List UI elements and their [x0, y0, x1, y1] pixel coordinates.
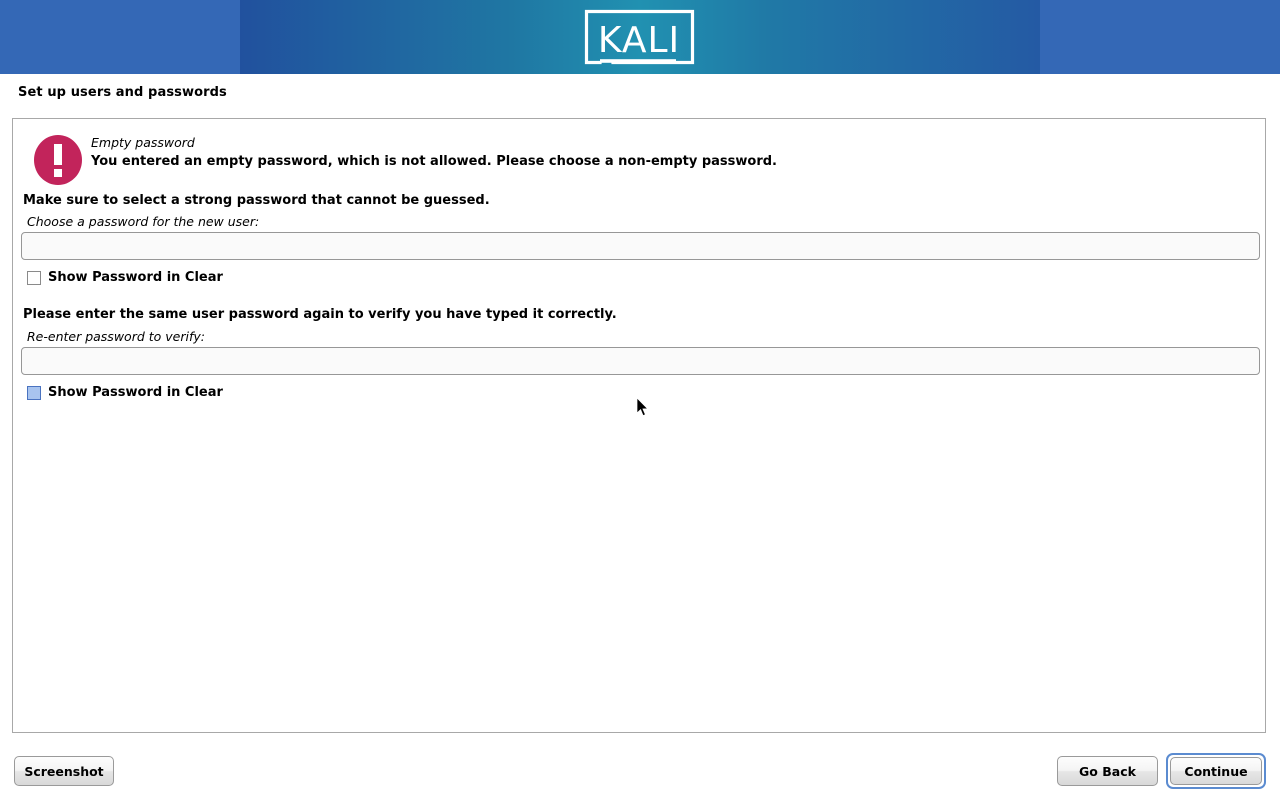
password-input[interactable] [21, 232, 1260, 260]
screenshot-button[interactable]: Screenshot [14, 756, 114, 786]
go-back-button[interactable]: Go Back [1057, 756, 1158, 786]
mouse-pointer [637, 398, 649, 417]
svg-text:KALI: KALI [598, 20, 680, 61]
verify-field-label: Re-enter password to verify: [27, 329, 205, 344]
header-banner: KALI [0, 0, 1280, 74]
show-password-label-1: Show Password in Clear [48, 270, 223, 285]
main-content-panel: Empty password You entered an empty pass… [12, 118, 1266, 733]
error-message-text: You entered an empty password, which is … [91, 154, 777, 169]
continue-button-focus-ring: Continue [1166, 753, 1266, 789]
show-password-checkbox-1[interactable] [27, 271, 41, 285]
error-title: Empty password [91, 135, 195, 150]
verify-password-hint: Please enter the same user password agai… [23, 307, 617, 322]
page-title: Set up users and passwords [18, 85, 227, 100]
error-exclamation-icon [34, 135, 82, 185]
kali-logo: KALI [583, 8, 696, 66]
password-field-label: Choose a password for the new user: [27, 214, 259, 229]
continue-button[interactable]: Continue [1170, 757, 1262, 785]
show-password-checkbox-2[interactable] [27, 386, 41, 400]
strong-password-hint: Make sure to select a strong password th… [23, 193, 490, 208]
show-password-label-2: Show Password in Clear [48, 385, 223, 400]
verify-password-input[interactable] [21, 347, 1260, 375]
